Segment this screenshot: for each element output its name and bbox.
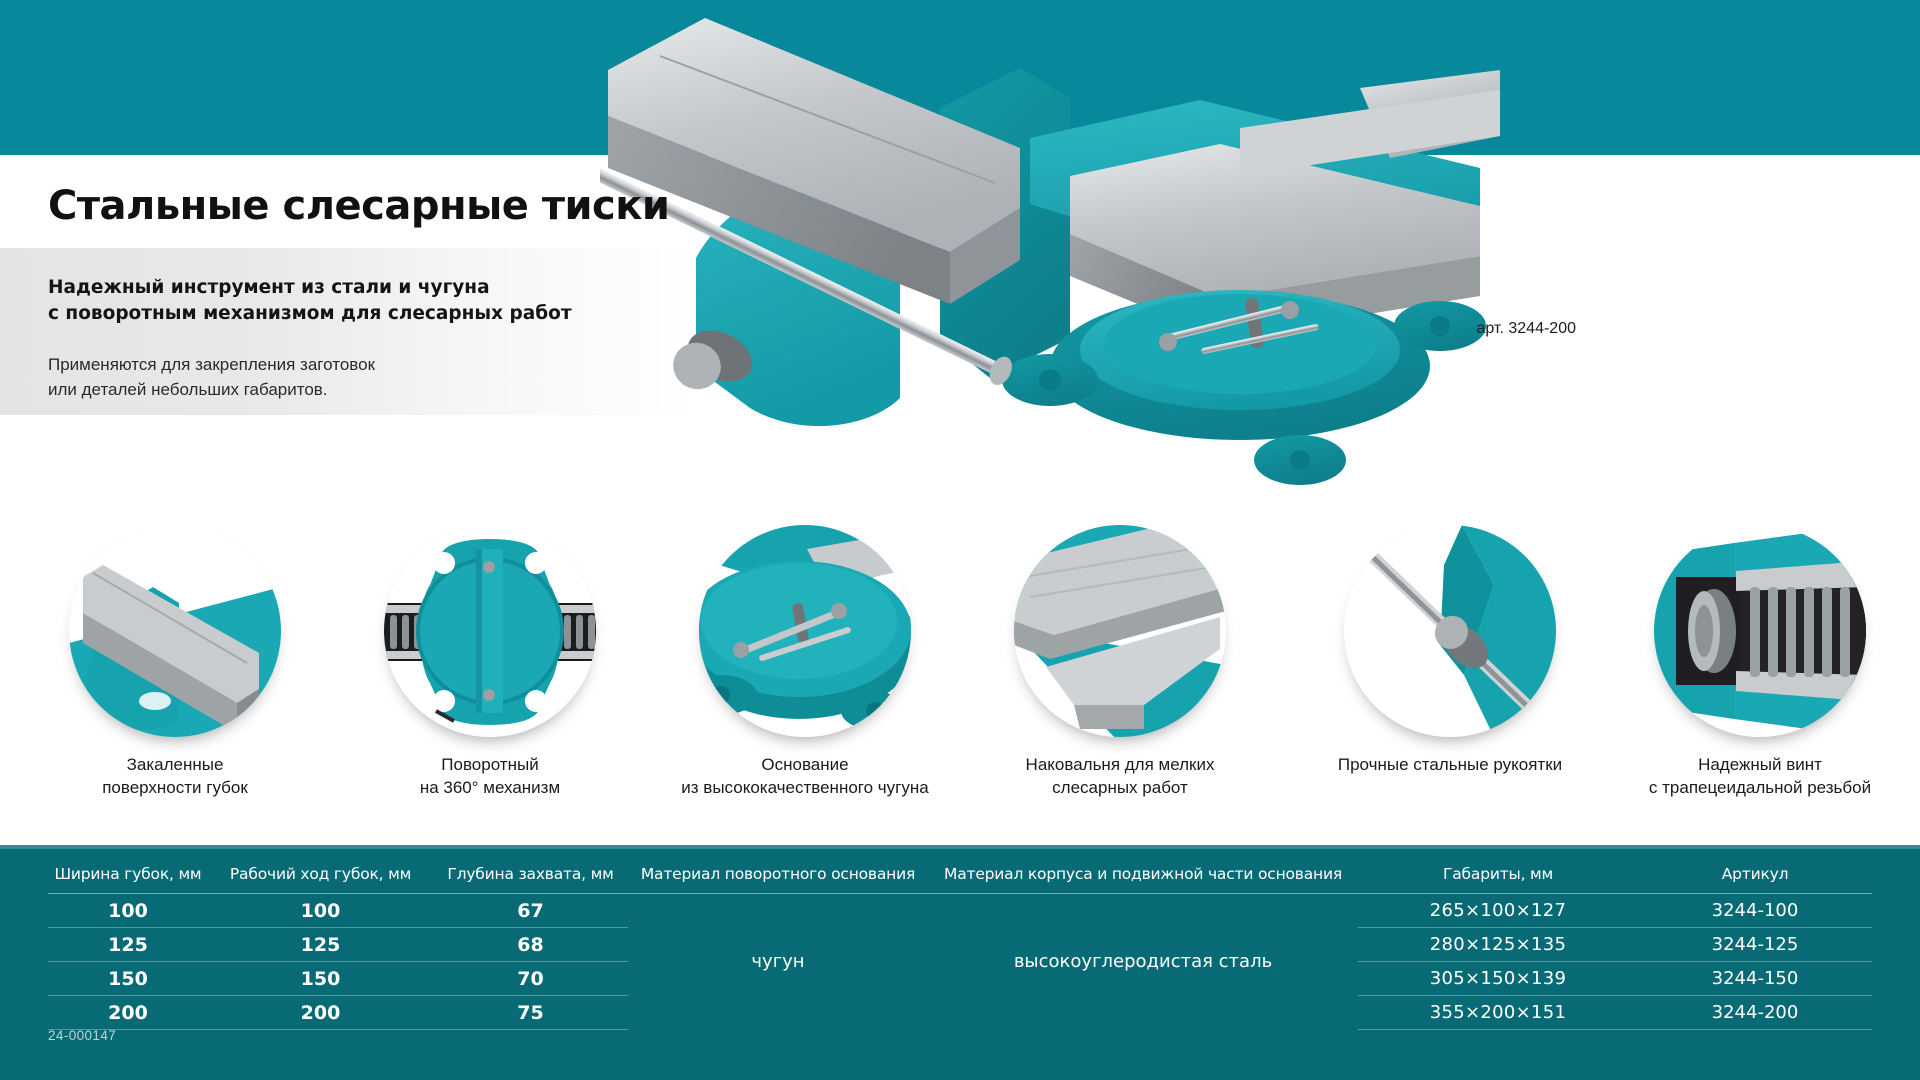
feature-item-trapezoid-screw: Надежный винт с трапецеидальной резьбой [1580, 525, 1920, 800]
subtitle-line-1: Надежный инструмент из стали и чугуна [48, 275, 572, 301]
col-header-dimensions: Габариты, мм [1358, 865, 1638, 894]
feature-caption: Прочные стальные рукоятки [1285, 754, 1615, 777]
col-header-swivel-material: Материал поворотного основания [628, 865, 928, 894]
table-top-divider [0, 845, 1920, 849]
cell-jaw-travel: 100 [208, 894, 433, 928]
note-line-2: или деталей небольших габаритов. [48, 377, 375, 402]
cell-jaw-width: 150 [48, 962, 208, 996]
subtitle-note: Применяются для закрепления заготовок ил… [48, 352, 375, 402]
cell-grip-depth: 67 [433, 894, 628, 928]
page-title: Стальные слесарные тиски [48, 183, 669, 229]
cell-article: 3244-100 [1638, 894, 1872, 928]
cell-article: 3244-125 [1638, 928, 1872, 962]
cell-dimensions: 265×100×127 [1358, 894, 1638, 928]
spec-table-band: Ширина губок, мм Рабочий ход губок, мм Г… [0, 845, 1920, 1080]
feature-caption: Наковальня для мелких слесарных работ [980, 754, 1260, 800]
note-line-1: Применяются для закрепления заготовок [48, 352, 375, 377]
cell-article: 3244-150 [1638, 962, 1872, 996]
hardened-jaws-icon [69, 525, 281, 737]
subtitle-strong: Надежный инструмент из стали и чугуна с … [48, 275, 572, 328]
footer-doc-code: 24-000147 [48, 1028, 116, 1043]
cell-jaw-travel: 125 [208, 928, 433, 962]
circle-wrap [699, 525, 911, 737]
cell-jaw-travel: 200 [208, 996, 433, 1030]
feature-item-steel-handle: Прочные стальные рукоятки [1285, 525, 1615, 777]
circle-wrap [1344, 525, 1556, 737]
col-header-jaw-travel: Рабочий ход губок, мм [208, 865, 433, 894]
col-header-body-material: Материал корпуса и подвижной части основ… [928, 865, 1358, 894]
feature-caption: Закаленные поверхности губок [35, 754, 315, 800]
circle-wrap [384, 525, 596, 737]
cell-grip-depth: 75 [433, 996, 628, 1030]
cell-article: 3244-200 [1638, 996, 1872, 1030]
cell-body-material: высокоуглеродистая сталь [928, 894, 1358, 1030]
circle-wrap [1654, 525, 1866, 737]
cell-jaw-width: 200 [48, 996, 208, 1030]
cast-iron-base-icon [699, 525, 911, 737]
table-row: 100 100 67 чугун высокоуглеродистая стал… [48, 894, 1872, 928]
swivel-base-icon [384, 525, 596, 737]
cell-jaw-width: 100 [48, 894, 208, 928]
spec-table: Ширина губок, мм Рабочий ход губок, мм Г… [48, 865, 1872, 1030]
col-header-grip-depth: Глубина захвата, мм [433, 865, 628, 894]
circle-wrap [1014, 525, 1226, 737]
cell-dimensions: 280×125×135 [1358, 928, 1638, 962]
col-header-article: Артикул [1638, 865, 1872, 894]
feature-item-anvil: Наковальня для мелких слесарных работ [980, 525, 1260, 800]
col-header-jaw-width: Ширина губок, мм [48, 865, 208, 894]
table-header-row: Ширина губок, мм Рабочий ход губок, мм Г… [48, 865, 1872, 894]
cell-dimensions: 305×150×139 [1358, 962, 1638, 996]
cell-grip-depth: 68 [433, 928, 628, 962]
feature-item-cast-iron-base: Основание из высококачественного чугуна [640, 525, 970, 800]
cell-jaw-width: 125 [48, 928, 208, 962]
steel-handle-icon [1344, 525, 1556, 737]
cell-grip-depth: 70 [433, 962, 628, 996]
cell-dimensions: 355×200×151 [1358, 996, 1638, 1030]
cell-swivel-material: чугун [628, 894, 928, 1030]
feature-item-swivel-base: Поворотный на 360° механизм [350, 525, 630, 800]
hero-article-label: арт. 3244-200 [1476, 320, 1576, 338]
circle-wrap [69, 525, 281, 737]
anvil-icon [1014, 525, 1226, 737]
subtitle-line-2: с поворотным механизмом для слесарных ра… [48, 301, 572, 327]
feature-caption: Основание из высококачественного чугуна [640, 754, 970, 800]
feature-item-hardened-jaws: Закаленные поверхности губок [35, 525, 315, 800]
feature-caption: Поворотный на 360° механизм [350, 754, 630, 800]
trapezoid-screw-icon [1654, 525, 1866, 737]
feature-caption: Надежный винт с трапецеидальной резьбой [1580, 754, 1920, 800]
product-photo [600, 8, 1500, 528]
feature-row: Закаленные поверхности губок [0, 525, 1920, 835]
cell-jaw-travel: 150 [208, 962, 433, 996]
product-infographic-page: СИБИН [0, 0, 1920, 1080]
